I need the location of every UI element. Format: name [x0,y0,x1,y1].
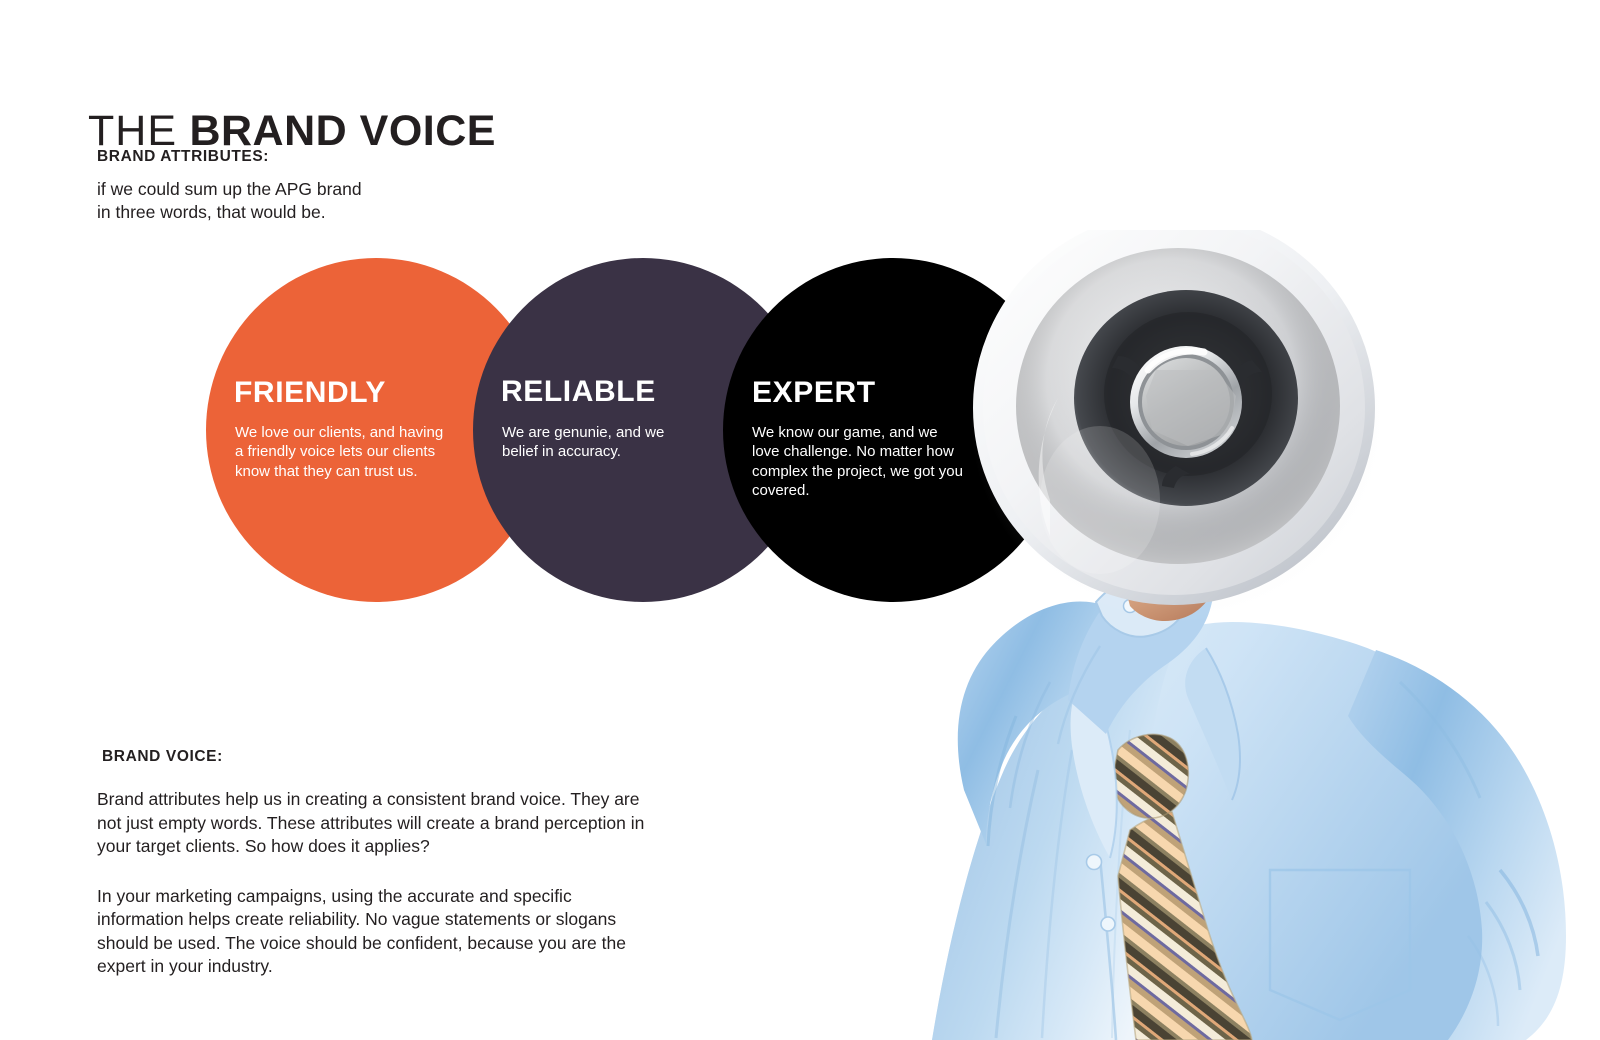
attribute-title-reliable: RELIABLE [501,375,656,409]
brand-attributes-section: BRAND ATTRIBUTES: if we could sum up the… [97,148,397,225]
attribute-description-reliable: We are genunie, and we belief in accurac… [502,423,682,462]
megaphone [970,230,1390,624]
brand-voice-paragraph-1: Brand attributes help us in creating a c… [97,788,662,859]
attribute-title-friendly: FRIENDLY [234,376,386,410]
attribute-description-friendly: We love our clients, and having a friend… [235,423,447,481]
brand-voice-heading: BRAND VOICE: [102,748,677,766]
man-with-megaphone-photo [800,230,1600,1040]
brand-voice-section: BRAND VOICE: Brand attributes help us in… [97,748,677,979]
brand-attributes-intro-text: if we could sum up the APG brand in thre… [97,178,372,225]
brand-attributes-heading: BRAND ATTRIBUTES: [97,148,397,166]
brand-voice-paragraph-2: In your marketing campaigns, using the a… [97,885,662,979]
